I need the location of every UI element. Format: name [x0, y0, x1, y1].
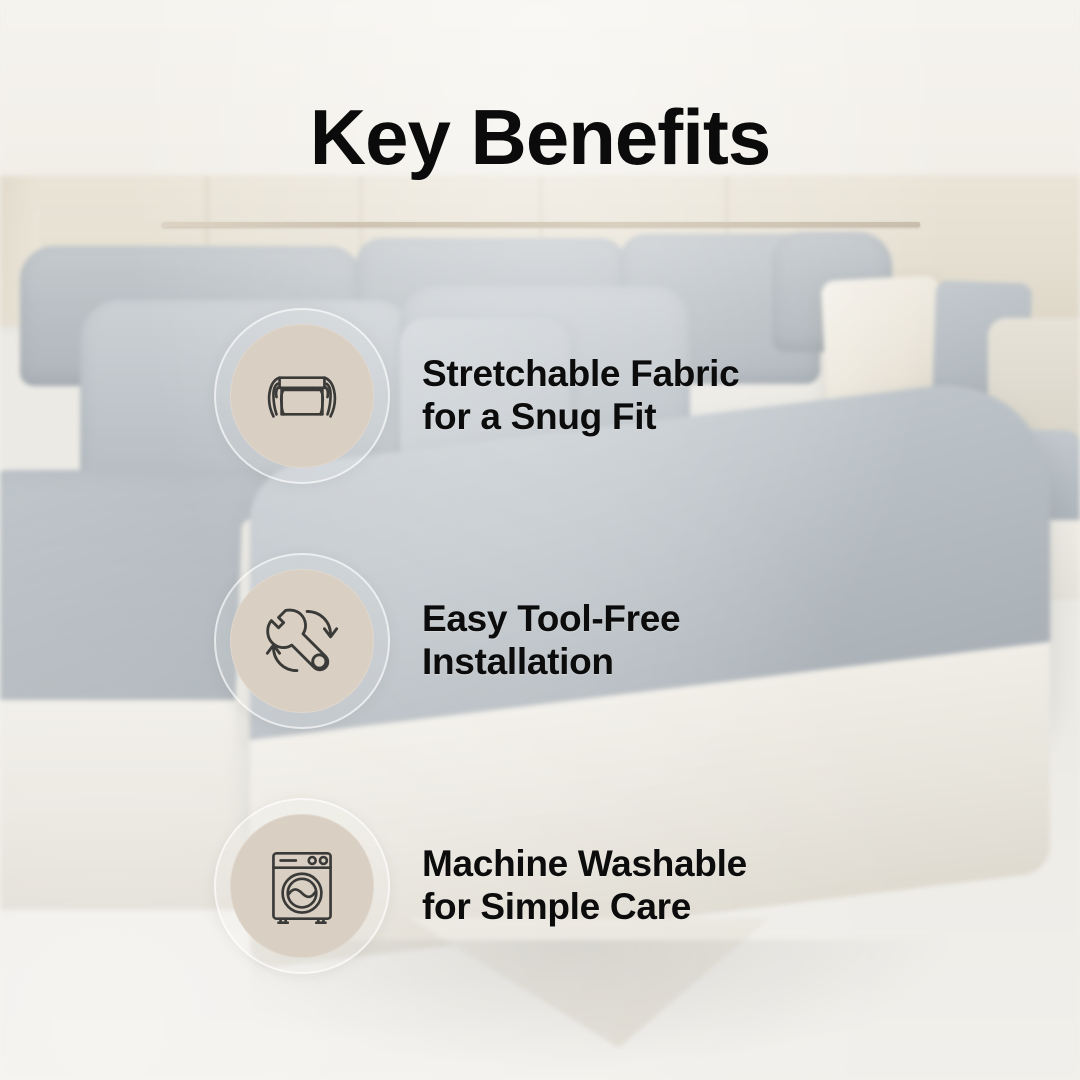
benefit-icon-badge: [214, 553, 390, 729]
benefit-icon-badge: [214, 798, 390, 974]
benefit-label: Easy Tool-Free Installation: [422, 598, 680, 684]
benefit-label: Machine Washable for Simple Care: [422, 843, 747, 929]
benefit-icon-badge: [214, 308, 390, 484]
page-title: Key Benefits: [0, 98, 1080, 176]
wrench-rotate-icon: [251, 590, 353, 692]
benefit-item-stretchable-fabric: Stretchable Fabric for a Snug Fit: [214, 308, 739, 484]
benefit-item-tool-free-installation: Easy Tool-Free Installation: [214, 553, 680, 729]
stretch-fabric-hands-icon: [251, 345, 353, 447]
washing-machine-icon: [251, 835, 353, 937]
benefit-label: Stretchable Fabric for a Snug Fit: [422, 353, 739, 439]
promo-graphic: Key Benefits: [0, 0, 1080, 1080]
title-divider: [162, 222, 920, 227]
benefit-item-machine-washable: Machine Washable for Simple Care: [214, 798, 747, 974]
